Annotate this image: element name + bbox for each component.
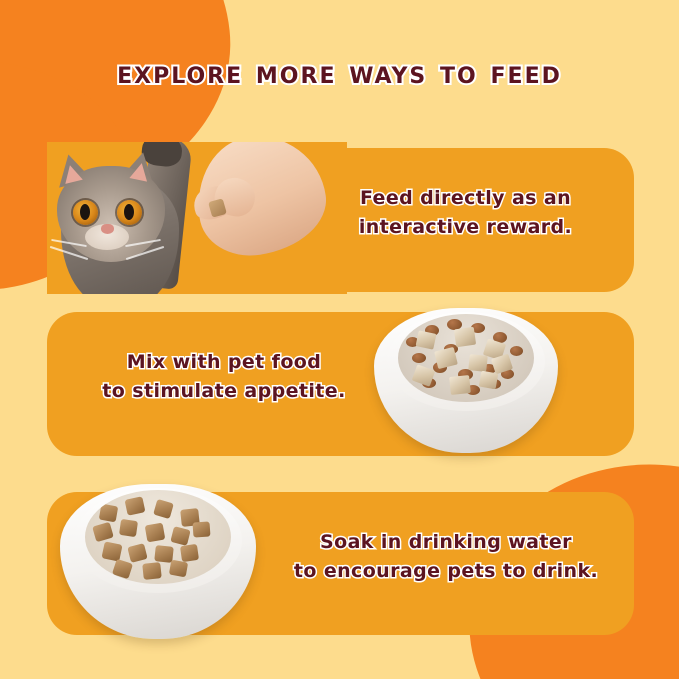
bowl-of-soaked-cubes-image xyxy=(60,478,256,646)
poster-canvas: Explore More Ways to Feed Feed directly … xyxy=(0,0,679,679)
soaked-cube xyxy=(171,526,191,546)
kibble-piece xyxy=(510,346,523,356)
soaked-cube xyxy=(145,522,166,542)
cat-reaching-for-treat-image xyxy=(47,142,347,294)
soaked-cube xyxy=(101,541,122,561)
freeze-dried-cube xyxy=(478,371,498,390)
kibble-piece xyxy=(412,353,426,363)
freeze-dried-cube xyxy=(434,347,458,369)
bowl-contents-kibble-mix xyxy=(398,314,534,402)
soaked-cube xyxy=(125,496,146,515)
soaked-cube xyxy=(99,504,119,523)
soaked-cube xyxy=(119,519,138,537)
soaked-cube xyxy=(92,522,114,542)
freeze-dried-cube xyxy=(468,354,488,372)
page-title: Explore More Ways to Feed xyxy=(0,55,679,91)
feature-card-text-feed-directly: Feed directly as an interactive reward. xyxy=(323,184,608,243)
soaked-cube xyxy=(153,499,174,519)
cat-pupil-left xyxy=(80,204,90,220)
bowl-of-kibble-with-cubes-image xyxy=(374,302,558,460)
soaked-cube xyxy=(127,543,147,563)
freeze-dried-cube xyxy=(454,327,476,348)
cat-nose xyxy=(101,224,114,234)
freeze-dried-cube xyxy=(449,375,471,395)
cat-pupil-right xyxy=(124,204,134,220)
freeze-dried-cube xyxy=(415,330,436,349)
feature-card-text-soak-in-water: Soak in drinking water to encourage pets… xyxy=(276,528,616,587)
soaked-cube xyxy=(168,560,187,578)
soaked-cube xyxy=(143,562,163,580)
soaked-cube xyxy=(180,543,199,561)
bowl-contents-soaked-cubes xyxy=(85,490,230,584)
cat-ear-inner-right xyxy=(129,161,150,181)
feature-card-text-mix-with-food: Mix with pet food to stimulate appetite. xyxy=(69,348,379,407)
soaked-cube xyxy=(192,521,210,537)
